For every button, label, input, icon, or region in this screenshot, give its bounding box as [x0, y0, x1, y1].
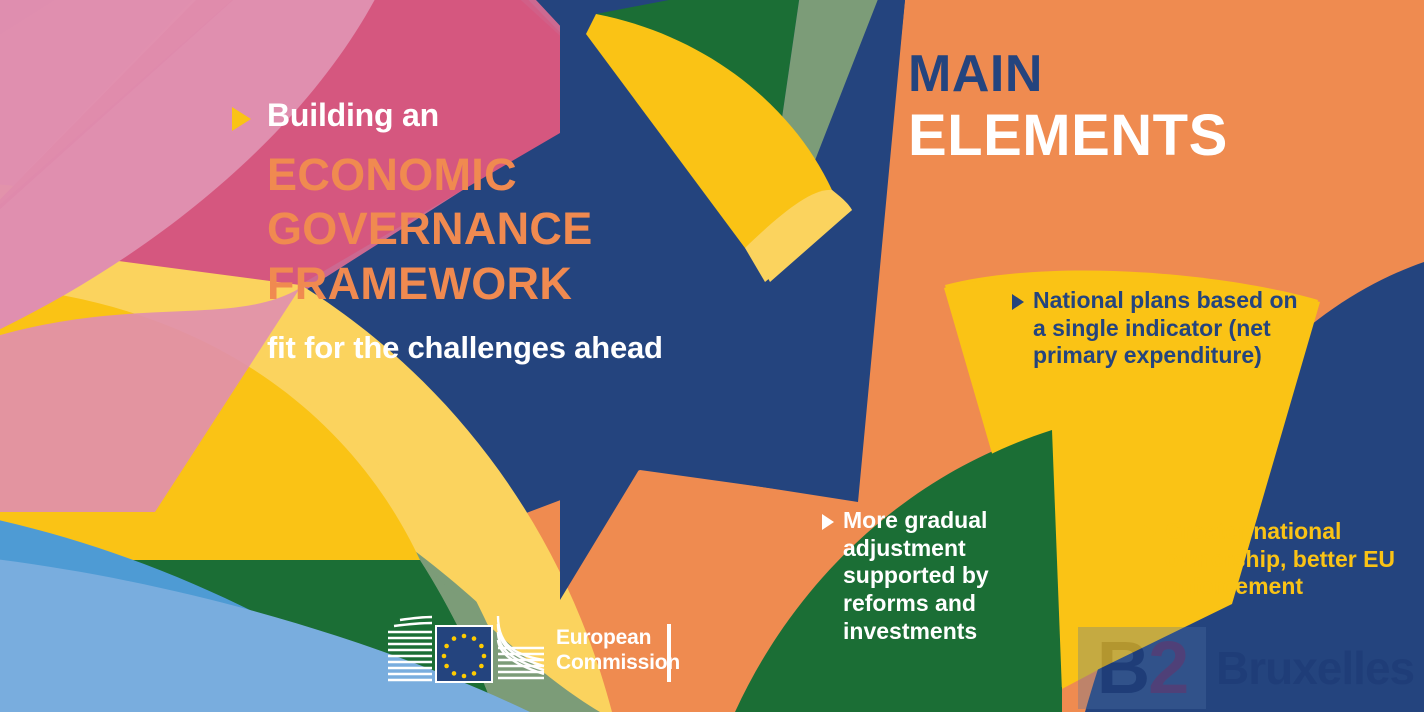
element-gradual-adjustment: More gradual adjustment supported by ref… — [822, 507, 1062, 646]
headline-emphasis-line-2: GOVERNANCE — [267, 202, 702, 256]
eu-logo-divider — [667, 624, 671, 682]
watermark-badge-b: B — [1097, 631, 1148, 705]
headline-line1: Building an — [267, 98, 439, 134]
triangle-right-icon — [822, 514, 834, 530]
watermark-badge: B 2 — [1078, 627, 1206, 709]
triangle-right-icon — [232, 107, 251, 131]
headline-block: Building an ECONOMIC GOVERNANCE FRAMEWOR… — [232, 98, 702, 367]
watermark-word: Bruxelles — [1216, 641, 1414, 695]
triangle-right-icon — [1144, 525, 1156, 541]
element-national-ownership-label: Greater national ownership, better EU en… — [1165, 518, 1424, 601]
element-national-plans: National plans based on a single indicat… — [1012, 287, 1312, 370]
infographic-canvas: Building an ECONOMIC GOVERNANCE FRAMEWOR… — [0, 0, 1424, 712]
element-gradual-adjustment-label: More gradual adjustment supported by ref… — [843, 507, 1062, 646]
page-title-line2: ELEMENTS — [908, 106, 1328, 167]
eu-logo-wordmark: European Commission — [556, 626, 680, 676]
page-title-line1: MAIN — [908, 48, 1328, 100]
watermark-b2-bruxelles: B 2 Bruxelles — [1078, 624, 1424, 712]
page-title: MAIN ELEMENTS — [908, 48, 1328, 167]
headline-emphasis: ECONOMIC GOVERNANCE FRAMEWORK — [267, 148, 702, 311]
headline-subtitle: fit for the challenges ahead — [267, 329, 702, 367]
headline-emphasis-line-1: ECONOMIC — [267, 148, 702, 202]
headline-emphasis-line-3: FRAMEWORK — [267, 257, 702, 311]
element-national-plans-label: National plans based on a single indicat… — [1033, 287, 1312, 370]
triangle-right-icon — [1012, 294, 1024, 310]
element-national-ownership: Greater national ownership, better EU en… — [1144, 518, 1424, 601]
watermark-badge-2: 2 — [1148, 631, 1187, 705]
european-commission-logo: European Commission — [386, 614, 686, 696]
